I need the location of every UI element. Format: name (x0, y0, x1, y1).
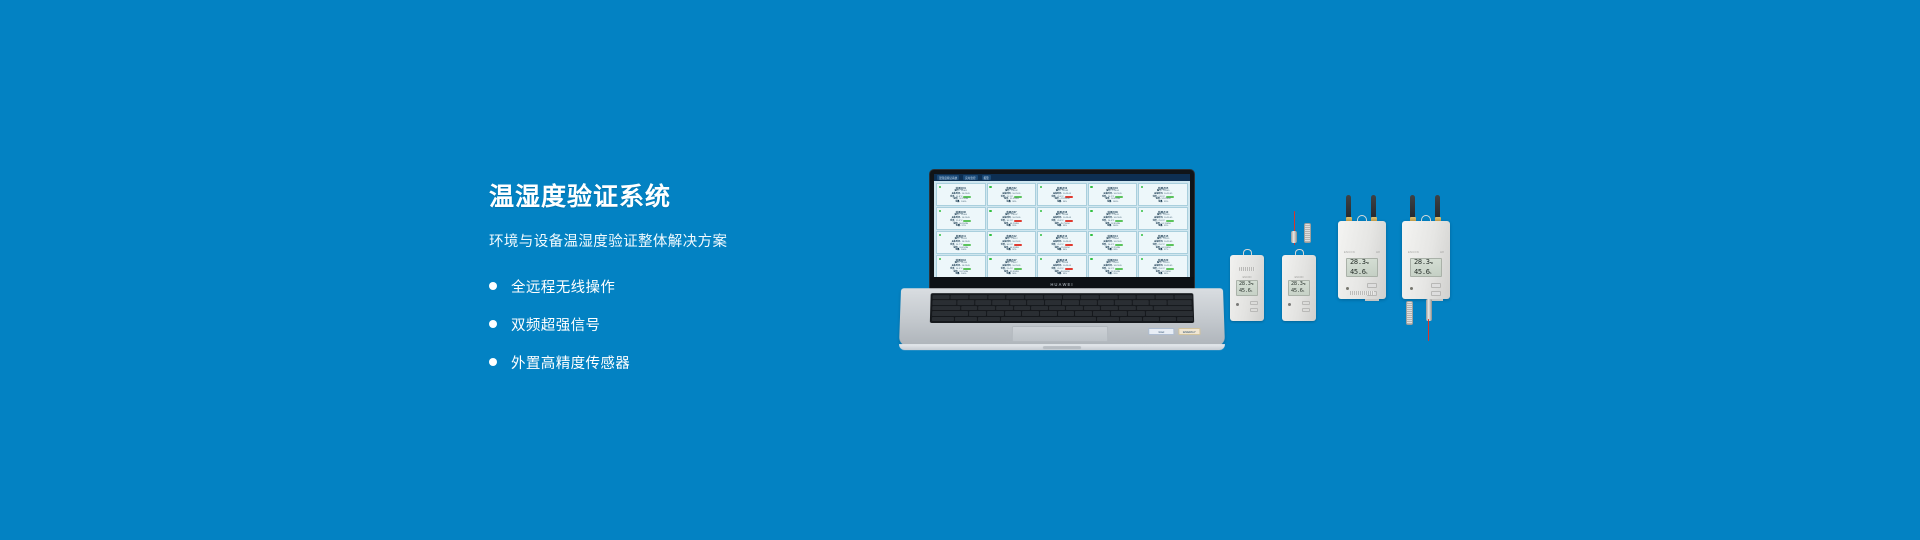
handheld-logger-1: ENCON 28.3℃ 45.6% (1230, 245, 1264, 321)
keyboard-key[interactable] (1097, 300, 1114, 305)
card-data-row: 电量:100% (955, 201, 966, 204)
laptop-screen: 温湿度验证系统 实时监控 报警 监测点01编号:T-0101采集时间:10:23… (934, 174, 1190, 277)
logger-button-up[interactable] (1250, 301, 1258, 305)
keyboard-key[interactable] (1014, 306, 1031, 311)
status-led-icon (1141, 258, 1144, 261)
card-field-label: 电量: (1107, 201, 1112, 204)
keyboard-key[interactable] (1040, 311, 1057, 316)
feature-label: 全远程无线操作 (511, 276, 615, 297)
keyboard-key[interactable] (1150, 300, 1167, 305)
logger-model-label: H8 (1376, 251, 1380, 254)
wireless-logger-2: ENCON H8 28.3℃ 45.6% (1402, 195, 1450, 317)
keyboard-key[interactable] (975, 300, 992, 305)
card-data-row: 电量:99% (1158, 201, 1168, 204)
keyboard-key[interactable] (1177, 317, 1193, 322)
keyboard-key[interactable] (1156, 295, 1174, 300)
card-field-value: 96% (1063, 201, 1067, 204)
monitoring-card[interactable]: 监测点10编号:T-0110采集时间:10:23:05温度:25.0℃湿度:51… (1138, 207, 1188, 230)
external-probe-filter (1406, 301, 1413, 325)
card-field-value: 97% (1164, 249, 1168, 252)
card-data-row: 电量:100% (1107, 201, 1118, 204)
feature-list: 全远程无线操作 双频超强信号 外置高精度传感器 (489, 273, 909, 375)
external-probe-cable (1428, 319, 1429, 341)
humidity-reading: 45.6% (1291, 288, 1309, 295)
card-field-label: 电量: (1006, 249, 1011, 252)
lcd-display: 28.3℃ 45.6% (1288, 280, 1310, 296)
status-led-icon (1141, 210, 1144, 213)
card-data-row: 电量:93% (1057, 225, 1067, 228)
app-top-menubar: 温湿度验证系统 实时监控 报警 (934, 174, 1190, 181)
keyboard-key[interactable] (996, 306, 1013, 311)
logger-button-down[interactable] (1431, 291, 1441, 296)
laptop-brand-label: HUAWEI (1050, 282, 1073, 287)
menu-item[interactable]: 温湿度验证系统 (937, 175, 959, 180)
card-field-label: 电量: (1057, 273, 1062, 276)
status-led-icon (939, 258, 942, 261)
keyboard-key[interactable] (1120, 317, 1142, 322)
keyboard-key[interactable] (1132, 300, 1149, 305)
card-field-value: 100% (961, 273, 966, 276)
keyboard-key[interactable] (1115, 300, 1132, 305)
probe-sensor-filter (1304, 223, 1311, 243)
card-field-value: 100% (961, 201, 966, 204)
card-data-row: 电量:92% (1006, 249, 1016, 252)
card-title: 监测点08 (1057, 210, 1067, 214)
page-title: 温湿度验证系统 (489, 182, 909, 212)
sensor-vent-icon (1239, 267, 1255, 271)
card-title: 监测点01 (956, 186, 966, 190)
status-led-icon (989, 234, 992, 237)
card-field-label: 电量: (955, 273, 960, 276)
list-item: 全远程无线操作 (489, 273, 909, 299)
status-led-icon (989, 258, 992, 261)
monitoring-card[interactable]: 监测点05编号:T-0105采集时间:10:23:05温度:24.9℃湿度:52… (1138, 183, 1188, 206)
monitoring-card[interactable]: 监测点19编号:T-0119采集时间:10:23:05温度:24.5℃湿度:52… (1088, 255, 1138, 277)
card-title: 监测点06 (956, 210, 966, 214)
status-led-icon (1141, 234, 1144, 237)
keyboard-key[interactable] (1081, 295, 1099, 300)
status-led-icon (989, 210, 992, 213)
indicator-led-icon (1236, 303, 1239, 306)
card-field-value: 98% (1113, 249, 1117, 252)
keyboard-key[interactable] (993, 300, 1010, 305)
keyboard-key[interactable] (1049, 306, 1066, 311)
keyboard-key[interactable] (1143, 317, 1159, 322)
keyboard-key[interactable] (1010, 300, 1027, 305)
card-title: 监测点10 (1158, 210, 1168, 214)
keyboard-key[interactable] (1028, 300, 1045, 305)
keyboard-key[interactable] (1084, 306, 1101, 311)
logger-button-up[interactable] (1431, 283, 1441, 288)
monitoring-card[interactable]: 监测点18编号:T-0118采集时间:10:23:05温度:29.9℃湿度:46… (1037, 255, 1087, 277)
keyboard-key[interactable] (1128, 311, 1145, 316)
card-field-label: 电量: (1158, 225, 1163, 228)
logger-body: ENCON H8 28.3℃ 45.6% (1402, 221, 1450, 299)
logger-brand-row: ENCON H8 (1338, 251, 1386, 254)
humidity-reading: 45.6% (1414, 268, 1441, 278)
card-field-label: 电量: (1107, 225, 1112, 228)
monitoring-card[interactable]: 监测点03编号:T-0103采集时间:10:23:05温度:29.6℃湿度:47… (1037, 183, 1087, 206)
keyboard-key[interactable] (961, 306, 978, 311)
card-title: 监测点04 (1107, 186, 1117, 190)
lcd-display: 28.3℃ 45.6% (1346, 258, 1378, 277)
logger-body: ENCON 28.3℃ 45.6% (1230, 255, 1264, 321)
keyboard-key[interactable] (1031, 306, 1048, 311)
antenna-right-icon (1435, 195, 1440, 219)
keyboard-key[interactable] (1045, 300, 1061, 305)
keyboard-key[interactable] (969, 311, 986, 316)
logger-button-up[interactable] (1367, 283, 1377, 288)
keyboard-key[interactable] (951, 295, 969, 300)
card-data-row: 电量:97% (956, 225, 966, 228)
card-field-value: 100% (961, 249, 966, 252)
monitoring-card[interactable]: 监测点06编号:T-0106采集时间:10:23:05温度:25.3℃湿度:50… (936, 207, 986, 230)
temperature-reading: 28.3℃ (1350, 258, 1377, 268)
card-data-row: 电量:99% (1108, 273, 1118, 276)
monitoring-card[interactable]: 监测点17编号:T-0117采集时间:10:23:05温度:25.4℃湿度:51… (987, 255, 1037, 277)
logger-button-down[interactable] (1302, 308, 1310, 312)
keyboard-key[interactable] (1007, 295, 1025, 300)
monitoring-card[interactable]: 监测点20编号:T-0120采集时间:10:23:05温度:25.6℃湿度:50… (1138, 255, 1188, 277)
card-field-value: 99% (1164, 225, 1168, 228)
keyboard-key[interactable] (1075, 311, 1092, 316)
logger-button-down[interactable] (1250, 308, 1258, 312)
list-item: 双频超强信号 (489, 311, 909, 337)
keyboard-key[interactable] (988, 295, 1006, 300)
monitoring-card[interactable]: 监测点04编号:T-0104采集时间:10:23:05温度:24.2℃湿度:53… (1088, 183, 1138, 206)
card-field-value: 93% (1063, 225, 1067, 228)
keyboard-key[interactable] (1101, 306, 1118, 311)
keyboard-row (932, 300, 1192, 305)
external-probe-connector (1426, 299, 1432, 321)
monitoring-card[interactable]: 监测点08编号:T-0108采集时间:10:23:05温度:29.8℃湿度:45… (1037, 207, 1087, 230)
card-data-row: 电量:98% (1006, 201, 1016, 204)
card-title: 监测点03 (1057, 186, 1067, 190)
keyboard-key[interactable] (1136, 306, 1153, 311)
laptop-trackpad[interactable] (1012, 326, 1109, 342)
logger-brand-label: ENCON (1230, 276, 1264, 279)
handheld-logger-2: ENCON 28.3℃ 45.6% (1282, 245, 1316, 321)
list-item: 外置高精度传感器 (489, 349, 909, 375)
status-led-icon (1040, 186, 1043, 189)
humidity-reading: 45.6% (1350, 268, 1377, 278)
status-led-icon (939, 234, 942, 237)
keyboard-key[interactable] (1058, 311, 1075, 316)
card-field-label: 电量: (956, 225, 961, 228)
menu-item[interactable]: 实时监控 (963, 175, 977, 180)
card-data-row: 电量:94% (1057, 249, 1067, 252)
card-field-value: 95% (1012, 225, 1016, 228)
keyboard-key[interactable] (978, 306, 995, 311)
card-field-label: 电量: (1006, 273, 1011, 276)
keyboard-key[interactable] (1093, 311, 1110, 316)
laptop-product-image: 温湿度验证系统 实时监控 报警 监测点01编号:T-0101采集时间:10:23… (880, 160, 1240, 365)
keyboard-key[interactable] (1022, 311, 1039, 316)
card-data-row: 电量:97% (1158, 249, 1168, 252)
page-subtitle: 环境与设备温湿度验证整体解决方案 (489, 230, 909, 251)
keyboard-key[interactable] (1160, 317, 1176, 322)
antenna-left-icon (1346, 195, 1351, 219)
sensor-grill-icon (1350, 291, 1374, 295)
keyboard-key[interactable] (1066, 306, 1083, 311)
feature-label: 外置高精度传感器 (511, 352, 630, 373)
bullet-dot-icon (489, 282, 497, 290)
logger-button-up[interactable] (1302, 301, 1310, 305)
antenna-right-icon (1371, 195, 1376, 219)
keyboard-key[interactable] (1063, 295, 1081, 300)
card-title: 监测点09 (1107, 210, 1117, 214)
keyboard-key[interactable] (1137, 295, 1155, 300)
bullet-dot-icon (489, 320, 497, 328)
card-title: 监测点07 (1006, 210, 1016, 214)
temperature-reading: 28.3℃ (1414, 258, 1441, 268)
card-data-row: 电量:100% (955, 273, 966, 276)
keyboard-key[interactable] (958, 300, 975, 305)
card-data-row: 电量:100% (955, 249, 966, 252)
keyboard-key[interactable] (1001, 317, 1096, 322)
card-field-value: 93% (1063, 273, 1067, 276)
status-led-icon (1040, 258, 1043, 261)
card-field-label: 电量: (1158, 249, 1163, 252)
card-field-value: 96% (1012, 273, 1016, 276)
card-field-label: 电量: (1006, 225, 1011, 228)
keyboard-key[interactable] (932, 306, 960, 311)
card-data-row: 电量:96% (1006, 273, 1016, 276)
keyboard-row (932, 295, 1192, 300)
probe-connector (1291, 231, 1297, 243)
card-data-row: 电量:96% (1057, 201, 1067, 204)
keyboard-key[interactable] (1062, 300, 1078, 305)
status-led-icon (1040, 234, 1043, 237)
keyboard-key[interactable] (1080, 300, 1097, 305)
card-data-row: 电量:93% (1057, 273, 1067, 276)
card-field-value: 100% (1113, 225, 1118, 228)
keyboard-key[interactable] (932, 295, 950, 300)
monitoring-card[interactable]: 监测点15编号:T-0115采集时间:10:23:05温度:25.2℃湿度:50… (1138, 231, 1188, 254)
status-led-icon (989, 186, 992, 189)
keyboard-key[interactable] (1118, 295, 1136, 300)
monitoring-card[interactable]: 监测点13编号:T-0113采集时间:10:23:05温度:29.3℃湿度:47… (1037, 231, 1087, 254)
keyboard-key[interactable] (978, 317, 1000, 322)
antenna-left-icon (1410, 195, 1415, 219)
monitoring-card-grid: 监测点01编号:T-0101采集时间:10:23:05温度:24.8℃湿度:52… (934, 181, 1190, 277)
keyboard-key[interactable] (987, 311, 1004, 316)
card-field-label: 电量: (1108, 249, 1113, 252)
monitoring-card[interactable]: 监测点09编号:T-0109采集时间:10:23:05温度:24.4℃湿度:52… (1088, 207, 1138, 230)
indicator-led-icon (1346, 287, 1349, 290)
card-field-value: 94% (1063, 249, 1067, 252)
lcd-display: 28.3℃ 45.6% (1236, 280, 1258, 296)
logger-brand-row: ENCON H8 (1402, 251, 1450, 254)
card-field-label: 电量: (1006, 201, 1011, 204)
status-led-icon (1090, 210, 1093, 213)
menu-item[interactable]: 报警 (982, 175, 991, 180)
keyboard-key[interactable] (969, 295, 987, 300)
card-data-row: 电量:98% (1108, 249, 1118, 252)
card-data-row: 电量:98% (1158, 273, 1168, 276)
device-product-images: ENCON 28.3℃ 45.6% ENC (1230, 205, 1530, 405)
laptop-lid: 温湿度验证系统 实时监控 报警 监测点01编号:T-0101采集时间:10:23… (930, 170, 1194, 292)
keyboard-key[interactable] (1097, 317, 1119, 322)
cpu-sticker: Intel (1148, 328, 1174, 335)
keyboard-row (932, 306, 1193, 311)
logger-brand-label: ENCON (1408, 251, 1419, 254)
card-data-row: 电量:100% (1107, 225, 1118, 228)
monitoring-card[interactable]: 监测点16编号:T-0116采集时间:10:23:05温度:24.3℃湿度:53… (936, 255, 986, 277)
card-field-label: 电量: (1108, 273, 1113, 276)
keyboard-key[interactable] (1119, 306, 1136, 311)
keyboard-key[interactable] (1044, 295, 1062, 300)
keyboard-row (931, 317, 1192, 322)
card-field-label: 电量: (1057, 201, 1062, 204)
card-field-value: 98% (1012, 201, 1016, 204)
wireless-logger-1: ENCON H8 28.3℃ 45.6% (1338, 195, 1386, 317)
monitoring-card[interactable]: 监测点02编号:T-0102采集时间:10:23:05温度:25.1℃湿度:51… (987, 183, 1037, 206)
status-led-icon (1090, 234, 1093, 237)
status-led-icon (1090, 258, 1093, 261)
hero-copy: 温湿度验证系统 环境与设备温湿度验证整体解决方案 全远程无线操作 双频超强信号 … (489, 182, 909, 387)
keyboard-key[interactable] (1100, 295, 1118, 300)
monitoring-card[interactable]: 监测点07编号:T-0107采集时间:10:23:05温度:30.1℃湿度:46… (987, 207, 1037, 230)
card-field-value: 92% (1012, 249, 1016, 252)
monitoring-card[interactable]: 监测点01编号:T-0101采集时间:10:23:05温度:24.8℃湿度:52… (936, 183, 986, 206)
card-data-row: 电量:99% (1158, 225, 1168, 228)
card-data-row: 电量:95% (1006, 225, 1016, 228)
status-led-icon (939, 210, 942, 213)
laptop-keyboard[interactable] (930, 293, 1194, 323)
decor-stripe (1365, 299, 1379, 301)
card-field-label: 电量: (955, 249, 960, 252)
card-field-label: 电量: (1057, 249, 1062, 252)
status-led-icon (1040, 210, 1043, 213)
card-field-value: 99% (1164, 201, 1168, 204)
energy-sticker: ENERGY (1178, 328, 1200, 335)
card-field-value: 98% (1164, 273, 1168, 276)
keyboard-key[interactable] (1110, 311, 1127, 316)
temperature-reading: 28.3℃ (1291, 281, 1309, 288)
hero-banner: 温湿度验证系统 环境与设备温湿度验证整体解决方案 全远程无线操作 双频超强信号 … (0, 0, 1920, 540)
keyboard-key[interactable] (932, 300, 957, 305)
card-field-label: 电量: (955, 201, 960, 204)
monitoring-card[interactable]: 监测点14编号:T-0114采集时间:10:23:05温度:24.6℃湿度:52… (1088, 231, 1138, 254)
indicator-led-icon (1410, 287, 1413, 290)
card-field-label: 电量: (1057, 225, 1062, 228)
logger-body: ENCON H8 28.3℃ 45.6% (1338, 221, 1386, 299)
keyboard-key[interactable] (955, 317, 977, 322)
card-field-label: 电量: (1158, 201, 1163, 204)
laptop-base: Intel ENERGY (899, 288, 1225, 346)
humidity-reading: 45.6% (1239, 288, 1257, 295)
monitoring-card[interactable]: 监测点12编号:T-0112采集时间:10:23:05温度:30.5℃湿度:44… (987, 231, 1037, 254)
card-field-label: 电量: (1158, 273, 1163, 276)
keyboard-key[interactable] (1154, 306, 1192, 311)
indicator-led-icon (1288, 303, 1291, 306)
card-field-value: 100% (1113, 201, 1118, 204)
keyboard-key[interactable] (1025, 295, 1043, 300)
keyboard-key[interactable] (1005, 311, 1022, 316)
bullet-dot-icon (489, 358, 497, 366)
temperature-reading: 28.3℃ (1239, 281, 1257, 288)
keyboard-key[interactable] (931, 317, 953, 322)
status-led-icon (1090, 186, 1093, 189)
card-field-value: 99% (1113, 273, 1117, 276)
status-led-icon (939, 186, 942, 189)
status-led-icon (1141, 186, 1144, 189)
logger-body: ENCON 28.3℃ 45.6% (1282, 255, 1316, 321)
card-title: 监测点02 (1006, 186, 1016, 190)
laptop-open-notch (1043, 346, 1081, 349)
card-field-value: 97% (962, 225, 966, 228)
keyboard-key[interactable] (1146, 311, 1193, 316)
keyboard-key[interactable] (932, 311, 969, 316)
keyboard-key[interactable] (1174, 295, 1192, 300)
card-title: 监测点05 (1158, 186, 1168, 190)
monitoring-card[interactable]: 监测点11编号:T-0111采集时间:10:23:05温度:24.7℃湿度:53… (936, 231, 986, 254)
keyboard-row (932, 311, 1193, 316)
lcd-display: 28.3℃ 45.6% (1410, 258, 1442, 277)
logger-model-label: H8 (1440, 251, 1444, 254)
feature-label: 双频超强信号 (511, 314, 600, 335)
keyboard-key[interactable] (1167, 300, 1192, 305)
logger-brand-label: ENCON (1282, 276, 1316, 279)
logger-brand-label: ENCON (1344, 251, 1355, 254)
